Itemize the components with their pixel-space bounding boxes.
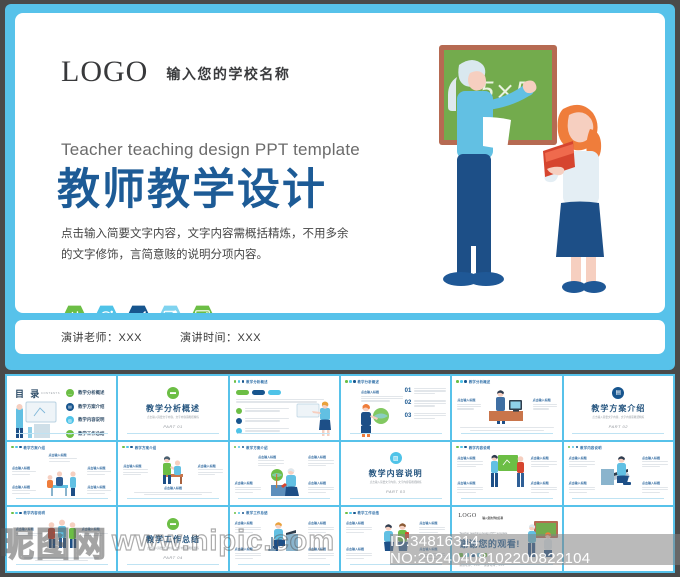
thumb-header: 教学工作总结 (345, 510, 379, 515)
paragraph-placeholder: 点击输入标题 (308, 455, 334, 468)
closing-school-name: 输入您的学校名称 (482, 516, 503, 520)
section-icon: ▬ (167, 387, 179, 399)
paragraph-placeholder: 点击输入标题 (531, 481, 557, 494)
section-part: PART 02 (564, 424, 673, 429)
section-title: 教学分析概述 (118, 403, 227, 414)
screenshot-root: LOGO 输入您的学校名称 Teacher teaching design PP… (0, 0, 680, 577)
section-subtitle: 点击输入简要文字内容，文字内容需概括精炼 (564, 416, 673, 420)
paragraph-placeholder: 点击输入标题 (198, 464, 223, 477)
divider (350, 498, 442, 499)
paragraph-placeholder: 点击输入标题 (419, 547, 445, 560)
english-subtitle: Teacher teaching design PPT template (61, 140, 360, 160)
icon-row (62, 304, 215, 313)
paragraph-placeholder: 点击输入标题 (642, 481, 668, 494)
divider (238, 564, 330, 565)
thumbnail-blank (564, 507, 673, 571)
toc-item[interactable]: ▨ 教学内容说明 (66, 416, 104, 424)
thumbnail-plan-group[interactable]: 教学方案介绍 点击输入标题 点击输入标题 点击输入标题 点击输入标题 点击输入标… (7, 442, 116, 506)
thumb-title: 教学分析概述 (246, 379, 268, 384)
thumbnail-plan-globe[interactable]: 教学方案介绍 点击输入标题 点击输入标题 点击输入标题 点击输入标题 (230, 442, 339, 506)
thumbnail-analysis-numbered[interactable]: 教学分析概述 点击输入标题 01 02 03 (341, 376, 450, 440)
section-icon: ▬ (167, 518, 179, 530)
divider (127, 433, 219, 434)
illustration-two-students (376, 520, 416, 552)
logo-row: LOGO 输入您的学校名称 (61, 57, 290, 87)
thumbnail-thanks[interactable]: LOGO 输入您的学校名称 Teacher teaching design PP… (452, 507, 561, 571)
divider (238, 498, 330, 499)
bullet-list (236, 408, 289, 434)
divider (16, 498, 108, 499)
thumb-header: 教学工作总结 (234, 510, 268, 515)
footer-placeholder (460, 427, 553, 431)
thumb-title: 教学分析概述 (358, 379, 380, 384)
paragraph-placeholder: 点击输入标题 (49, 453, 77, 463)
section-part: PART 04 (118, 555, 227, 560)
number-badge: 02 (405, 400, 412, 406)
toc-title: 目 录 (15, 387, 41, 400)
toc-item[interactable]: ▤ 教学方案介绍 (66, 403, 104, 411)
thumb-title: 教学内容说明 (24, 510, 46, 515)
thumb-header: 教学内容说明 (11, 510, 45, 515)
paragraph-placeholder: 点击输入标题 (87, 466, 111, 476)
thumbnail-analysis-tags[interactable]: 教学分析概述 (230, 376, 339, 440)
closing-title: 谢谢您的观看! (459, 537, 520, 550)
divider (461, 498, 553, 499)
divider (461, 433, 553, 434)
divider (461, 564, 553, 565)
thumbnail-content-sports[interactable]: 教学内容说明 点击输入标题 点击输入标题 (7, 507, 116, 571)
section-title: 教学工作总结 (118, 534, 227, 545)
header-dots-icon (11, 512, 22, 515)
divider-center: ▨ 教学内容说明 点击输入简要文字内容，文字内容需概括精炼 PART 03 (341, 452, 450, 494)
toc-bullet-icon: ▤ (66, 403, 74, 411)
paragraph-placeholder: 点击输入标题 (569, 481, 595, 494)
section-title: 教学内容说明 (341, 468, 450, 479)
cover-slide[interactable]: LOGO 输入您的学校名称 Teacher teaching design PP… (15, 13, 665, 313)
divider (238, 433, 330, 434)
thumb-header: 教学内容说明 (456, 445, 490, 450)
header-dots-icon (122, 446, 133, 449)
paragraph-placeholder: 点击输入标题 (346, 547, 372, 560)
illustration-students-desk (42, 471, 82, 497)
thumbnail-part01-divider[interactable]: ▬ 教学分析概述 点击输入简要文字内容，文字内容需概括精炼 PART 01 (118, 376, 227, 440)
divider (16, 564, 108, 565)
cover-description: 点击输入简要文字内容，文字内容需概括精炼，不用多余的文字修饰，言简意赅的说明分项… (61, 224, 353, 266)
section-title: 教学方案介绍 (564, 403, 673, 414)
illustration-woman-seated-desk (264, 519, 304, 553)
section-icon: ▨ (390, 452, 402, 464)
toc-bullet-icon: ▨ (66, 416, 74, 424)
section-part: PART 01 (118, 424, 227, 429)
thumb-title: 教学分析概述 (469, 379, 491, 384)
thumbnail-toc[interactable]: 目 录 CONTENTS — 教学分析概述 ▤ 教学方案介绍 (7, 376, 116, 440)
toc-item[interactable]: — 教学分析概述 (66, 389, 104, 397)
toc-item-label: 教学分析概述 (78, 390, 104, 396)
paragraph-placeholder: 点击输入标题 (308, 547, 334, 560)
closing-logo: LOGO (458, 513, 476, 519)
section-subtitle: 点击输入简要文字内容，文字内容需概括精炼 (118, 416, 227, 420)
thumb-header: 教学分析概述 (345, 379, 379, 384)
divider-center: ▬ 教学分析概述 点击输入简要文字内容，文字内容需概括精炼 PART 01 (118, 387, 227, 429)
thumbnail-content-board[interactable]: 教学内容说明 点击输入标题 点击输入标题 点击输入标题 点击输入标题 (452, 442, 561, 506)
thumbnail-part02-divider[interactable]: ▤ 教学方案介绍 点击输入简要文字内容，文字内容需概括精炼 PART 02 (564, 376, 673, 440)
thumbnail-content-laptop[interactable]: 教学内容说明 点击输入标题 点击输入标题 点击输入标题 点击输入标题 (564, 442, 673, 506)
section-subtitle: 点击输入简要文字内容，文字内容需概括精炼 (341, 481, 450, 485)
paragraph-placeholder: 点击输入标题 (419, 521, 445, 534)
divider (127, 564, 219, 565)
divider (572, 433, 664, 434)
illustration-students-sports (40, 518, 84, 550)
number-list: 01 02 03 (405, 388, 447, 420)
section-part: PART 03 (341, 489, 450, 494)
illustration-teacher-helping (153, 455, 193, 485)
paragraph-placeholder: 点击输入标题 (82, 527, 108, 537)
paragraph-placeholder: 点击输入标题 (12, 466, 36, 476)
speaker-bar: 演讲老师：XXX 演讲时间：XXX (15, 320, 665, 354)
clock-icon[interactable] (94, 304, 119, 313)
toc-bullet-icon: — (66, 389, 74, 397)
speaker-label: 演讲老师：XXX (61, 329, 142, 345)
divider (572, 498, 664, 499)
thumb-title: 教学方案介绍 (246, 445, 268, 450)
page-title: 教师教学设计 (57, 165, 327, 215)
thumbnail-plan-tutor[interactable]: 教学方案介绍 点击输入标题 点击输入标题 点击输入标题 (118, 442, 227, 506)
paragraph-placeholder: 点击输入标题 (258, 455, 284, 468)
time-label: 演讲时间：XXX (180, 329, 261, 345)
thumbnail-summary-pair[interactable]: 教学工作总结 点击输入标题 点击输入标题 点击输入标题 点击输入标题 (341, 507, 450, 571)
paragraph-placeholder: 点击输入标题 (642, 456, 668, 469)
header-dots-icon (456, 446, 467, 449)
thumb-title: 教学工作总结 (246, 510, 268, 515)
paragraph-placeholder: 点击输入标题 (235, 521, 261, 534)
presentation-board-icon[interactable] (190, 304, 215, 313)
divider-center: ▤ 教学方案介绍 点击输入简要文字内容，文字内容需概括精炼 PART 02 (564, 387, 673, 429)
header-dots-icon (568, 446, 579, 449)
logo-text: LOGO (61, 57, 148, 87)
illustration-man-globe (267, 467, 303, 497)
header-dots-icon (345, 380, 356, 383)
header-dots-icon (11, 446, 22, 449)
toc-subtitle: CONTENTS (41, 392, 60, 395)
thumb-header: 教学分析概述 (234, 379, 268, 384)
paragraph-placeholder: 点击输入标题 (457, 481, 483, 494)
toc-list: — 教学分析概述 ▤ 教学方案介绍 ▨ 教学内容说明 — 教学工作总结 (66, 389, 104, 438)
paragraph-placeholder: 点击输入标题 (235, 481, 261, 494)
thumb-title: 教学内容说明 (469, 445, 491, 450)
closing-subtitle: Teacher teaching design PPT template (459, 531, 507, 535)
divider (350, 564, 442, 565)
paragraph-placeholder: 点击输入标题 (308, 481, 334, 494)
divider (16, 433, 108, 434)
illustration-man-laptop (597, 455, 639, 487)
cover-slide-frame: LOGO 输入您的学校名称 Teacher teaching design PP… (5, 4, 675, 370)
paragraph-placeholder: 点击输入标题 (87, 485, 111, 495)
paragraph-placeholder: 点击输入标题 (531, 456, 557, 469)
paragraph-placeholder: 点击输入标题 (533, 398, 557, 411)
paragraph-placeholder: 点击输入标题 (12, 485, 36, 495)
paragraph-placeholder: 点击输入标题 (346, 521, 372, 534)
illustration-teacher-student-board (520, 519, 560, 559)
divider-center: ▬ 教学工作总结 点击输入简要文字内容，文字内容需概括精炼 PART 04 (118, 518, 227, 560)
thumb-title: 教学内容说明 (580, 445, 602, 450)
paragraph-placeholder: 点击输入标题 (16, 527, 42, 537)
header-dots-icon (234, 380, 245, 383)
thumbnail-part04-divider[interactable]: ▬ 教学工作总结 点击输入简要文字内容，文字内容需概括精炼 PART 04 (118, 507, 227, 571)
paragraph-placeholder: 点击输入标题 (308, 521, 334, 534)
paragraph-placeholder: 点击输入标题 (123, 464, 148, 477)
paragraph-placeholder: 点击输入标题 (235, 547, 261, 560)
footer-placeholder (24, 557, 98, 561)
thumbnail-analysis-desk[interactable]: 教学分析概述 点击输入标题 点击输入标题 (452, 376, 561, 440)
header-dots-icon (456, 380, 467, 383)
header-dots-icon (234, 512, 245, 515)
section-subtitle: 点击输入简要文字内容，文字内容需概括精炼 (118, 547, 227, 551)
thumbnail-grid: 目 录 CONTENTS — 教学分析概述 ▤ 教学方案介绍 (5, 374, 675, 573)
thumb-header: 教学分析概述 (456, 379, 490, 384)
paragraph-placeholder: 点击输入标题 (457, 456, 483, 469)
thumb-header: 教学方案介绍 (122, 445, 156, 450)
thumb-title: 教学方案介绍 (135, 445, 157, 450)
illustration-green-board (485, 453, 529, 489)
divider (127, 498, 219, 499)
thumb-header: 教学内容说明 (568, 445, 602, 450)
school-name: 输入您的学校名称 (166, 64, 290, 87)
thumbnail-summary-desk[interactable]: 教学工作总结 点击输入标题 点击输入标题 点击输入标题 点击输入标题 (230, 507, 339, 571)
thumb-header: 教学方案介绍 (11, 445, 45, 450)
header-dots-icon (345, 512, 356, 515)
thumb-header: 教学方案介绍 (234, 445, 268, 450)
closing-icon-row (459, 553, 487, 557)
toc-item-label: 教学内容说明 (78, 417, 104, 423)
illustration-man-desk (484, 389, 530, 425)
thumbnail-part03-divider[interactable]: ▨ 教学内容说明 点击输入简要文字内容，文字内容需概括精炼 PART 03 (341, 442, 450, 506)
paragraph-placeholder: 点击输入标题 (569, 456, 595, 469)
growth-chart-icon[interactable] (126, 304, 151, 313)
number-badge: 01 (405, 388, 412, 394)
toc-item-label: 教学方案介绍 (78, 404, 104, 410)
thumb-title: 教学方案介绍 (24, 445, 46, 450)
edit-pen-icon[interactable] (158, 304, 183, 313)
tag-row (236, 390, 281, 395)
number-badge: 03 (405, 413, 412, 419)
paragraph-placeholder: 点击输入标题 (457, 398, 481, 411)
section-icon: ▤ (612, 387, 624, 399)
divider (350, 433, 442, 434)
bar-chart-icon[interactable] (62, 304, 87, 313)
footer-placeholder: 点击输入标题 (134, 486, 213, 495)
header-dots-icon (234, 446, 245, 449)
thumb-title: 教学工作总结 (358, 510, 380, 515)
cover-illustration: 5×5 (387, 29, 639, 307)
